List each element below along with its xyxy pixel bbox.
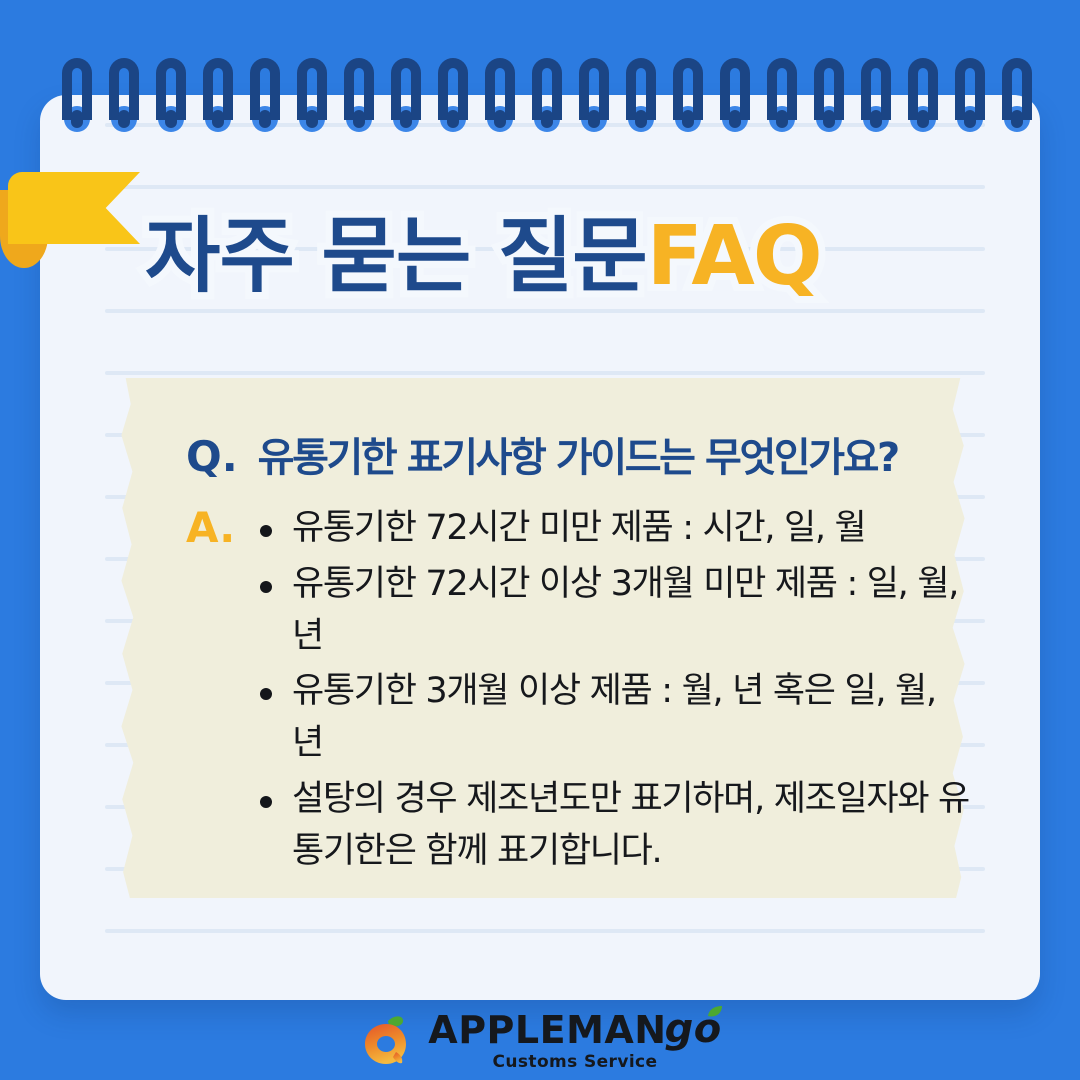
- answer-item: 설탕의 경우 제조년도만 표기하며, 제조일자와 유통기한은 함께 표기합니다.: [258, 774, 976, 878]
- answer-list: 유통기한 72시간 미만 제품 : 시간, 일, 월유통기한 72시간 이상 3…: [258, 503, 976, 882]
- spiral-ring-icon: [156, 58, 186, 130]
- spiral-ring-icon: [955, 58, 985, 130]
- rule-line: [105, 929, 985, 933]
- spiral-pin: [964, 110, 976, 128]
- faq-poster: 자주 묻는 질문FAQ Q. 유통기한 표기사항 가이드는 무엇인가요? A. …: [0, 0, 1080, 1080]
- spiral-ring-icon: [861, 58, 891, 130]
- brand-tagline: Customs Service: [493, 1054, 658, 1071]
- spiral-pin: [1011, 110, 1023, 128]
- apple-mango-icon: [358, 1012, 414, 1068]
- spiral-pin: [165, 110, 177, 128]
- spiral-pin: [729, 110, 741, 128]
- spiral-pin: [353, 110, 365, 128]
- spiral-pin: [494, 110, 506, 128]
- spiral-ring-icon: [767, 58, 797, 130]
- spiral-ring-icon: [344, 58, 374, 130]
- rule-line: [105, 185, 985, 189]
- bookmark-ribbon: [0, 172, 180, 268]
- spiral-ring-icon: [297, 58, 327, 130]
- spiral-pin: [447, 110, 459, 128]
- spiral-pin: [118, 110, 130, 128]
- question-marker: Q.: [186, 432, 238, 481]
- spiral-ring-icon: [626, 58, 656, 130]
- brand-name: APPLEMAN go: [428, 1009, 721, 1049]
- spiral-binding: [0, 58, 1080, 148]
- spiral-ring-icon: [250, 58, 280, 130]
- spiral-ring-icon: [109, 58, 139, 130]
- spiral-pin: [823, 110, 835, 128]
- spiral-ring-icon: [814, 58, 844, 130]
- spiral-pin: [917, 110, 929, 128]
- spiral-ring-icon: [391, 58, 421, 130]
- spiral-ring-icon: [438, 58, 468, 130]
- spiral-pin: [776, 110, 788, 128]
- spiral-pin: [870, 110, 882, 128]
- answer-item: 유통기한 72시간 이상 3개월 미만 제품 : 일, 월, 년: [258, 559, 976, 663]
- answer-item: 유통기한 3개월 이상 제품 : 월, 년 혹은 일, 월, 년: [258, 666, 976, 770]
- footer-brand: APPLEMAN go Customs Service: [0, 1000, 1080, 1080]
- spiral-ring-icon: [579, 58, 609, 130]
- spiral-pin: [541, 110, 553, 128]
- answer-row: A. 유통기한 72시간 미만 제품 : 시간, 일, 월유통기한 72시간 이…: [186, 503, 976, 882]
- spiral-pin: [212, 110, 224, 128]
- question-text: 유통기한 표기사항 가이드는 무엇인가요?: [258, 425, 898, 483]
- spiral-ring-icon: [532, 58, 562, 130]
- spiral-ring-icon: [62, 58, 92, 130]
- spiral-pin: [682, 110, 694, 128]
- spiral-ring-icon: [673, 58, 703, 130]
- spiral-pin: [635, 110, 647, 128]
- ribbon-flag-icon: [8, 172, 140, 244]
- spiral-pin: [400, 110, 412, 128]
- question-row: Q. 유통기한 표기사항 가이드는 무엇인가요?: [186, 425, 1026, 483]
- spiral-ring-icon: [908, 58, 938, 130]
- spiral-pin: [588, 110, 600, 128]
- answer-item: 유통기한 72시간 미만 제품 : 시간, 일, 월: [258, 503, 976, 555]
- spiral-ring-icon: [203, 58, 233, 130]
- spiral-ring-icon: [1002, 58, 1032, 130]
- title-korean: 자주 묻는 질문: [145, 209, 647, 304]
- title-faq: FAQ: [647, 209, 821, 304]
- spiral-pin: [259, 110, 271, 128]
- spiral-ring-icon: [485, 58, 515, 130]
- spiral-pin: [306, 110, 318, 128]
- spiral-pin: [71, 110, 83, 128]
- rule-line: [105, 309, 985, 313]
- rule-line: [105, 371, 985, 375]
- brand-name-main: APPLEMAN: [428, 1011, 666, 1049]
- brand-lockup: APPLEMAN go Customs Service: [428, 1009, 721, 1071]
- page-title: 자주 묻는 질문FAQ: [145, 216, 821, 298]
- leaf-icon: [706, 1005, 724, 1019]
- answer-marker: A.: [186, 503, 258, 553]
- spiral-ring-icon: [720, 58, 750, 130]
